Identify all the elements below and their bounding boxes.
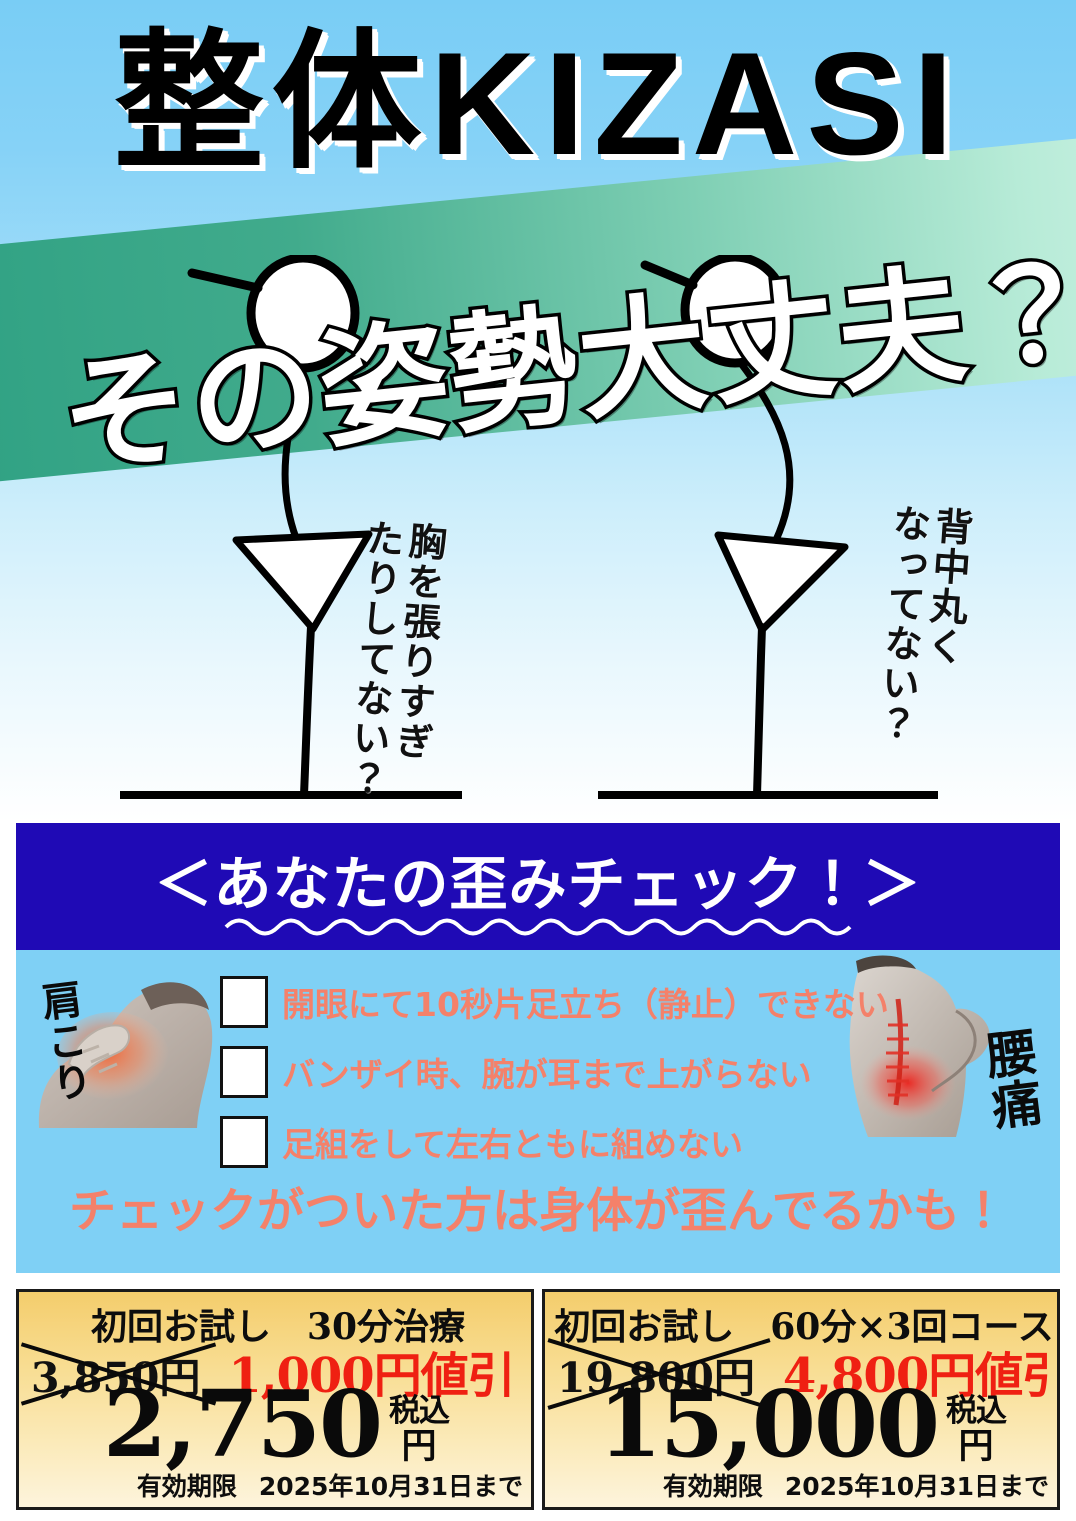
coupon-price-row-1: 2,750 税込 円 [19,1380,534,1468]
checklist-conclusion: チェックがついた方は身体が歪んでるかも！ [16,1172,1060,1241]
poster-root: 整体KIZASI その姿勢大丈夫？ 胸を張りすぎ たりしてない？ 背中丸く [0,0,1076,1521]
brand-kanji: 整体 [114,16,430,190]
coupon-expiry-2: 有効期限2025年10月31日まで [545,1467,1060,1503]
checklist-section: 肩こり 腰痛 [16,950,1060,1273]
coupon-card-1[interactable]: 初回お試し 30分治療 3,850円 1,000円値引 2,750 税込 円 有… [16,1289,534,1510]
coupon-tax-note-1: 税込 円 [389,1396,449,1464]
coupon-card-2[interactable]: 初回お試し 60分×3回コース 19,800円 4,800円値引 15,000 … [542,1289,1060,1510]
coupon-yen-label-1: 円 [389,1429,449,1464]
checklist-row[interactable]: 足組をして左右ともに組めない [220,1110,870,1174]
back-pain-label: 腰痛 [968,1024,1052,1134]
coupon-price-2: 15,000 [598,1380,938,1468]
coupon-expiry-label-1: 有効期限 [137,1472,237,1501]
checklist-row[interactable]: 開眼にて10秒片足立ち（静止）できない [220,970,870,1034]
coupon-expiry-date-2: 2025年10月31日まで [785,1472,1049,1501]
checkbox-1[interactable] [220,976,268,1028]
coupon-expiry-1: 有効期限2025年10月31日まで [19,1467,534,1503]
checkbox-3[interactable] [220,1116,268,1168]
wavy-underline-icon [224,913,854,943]
hero-section: 整体KIZASI その姿勢大丈夫？ 胸を張りすぎ たりしてない？ 背中丸く [0,0,1076,822]
checklist-items: 開眼にて10秒片足立ち（静止）できない バンザイ時、腕が耳まで上がらない 足組を… [220,970,870,1180]
coupon-row: 初回お試し 30分治療 3,850円 1,000円値引 2,750 税込 円 有… [16,1289,1060,1504]
brand-latin: KIZASI [430,22,963,185]
checklist-item-label-3: 足組をして左右ともに組めない [282,1118,743,1166]
coupon-tax-label-2: 税込 [946,1396,1006,1427]
checkbox-2[interactable] [220,1046,268,1098]
figure-right-caption: 背中丸く なってない？ [872,502,974,747]
coupon-tax-label-1: 税込 [389,1396,449,1427]
coupon-price-1: 2,750 [103,1380,381,1468]
coupon-price-row-2: 15,000 税込 円 [545,1380,1060,1468]
check-banner-title: ＜あなたの歪みチェック！＞ [16,837,1060,921]
checklist-item-label-2: バンザイ時、腕が耳まで上がらない [282,1048,812,1096]
coupon-yen-label-2: 円 [946,1429,1006,1464]
coupon-tax-note-2: 税込 円 [946,1396,1006,1464]
check-banner: ＜あなたの歪みチェック！＞ [16,823,1060,952]
coupon-expiry-date-1: 2025年10月31日まで [259,1472,523,1501]
checklist-row[interactable]: バンザイ時、腕が耳まで上がらない [220,1040,870,1104]
checklist-item-label-1: 開眼にて10秒片足立ち（静止）できない [282,978,889,1026]
page-title: 整体KIZASI [0,28,1076,178]
coupon-expiry-label-2: 有効期限 [663,1472,763,1501]
figure-left-caption: 胸を張りすぎ たりしてない？ [342,517,446,802]
